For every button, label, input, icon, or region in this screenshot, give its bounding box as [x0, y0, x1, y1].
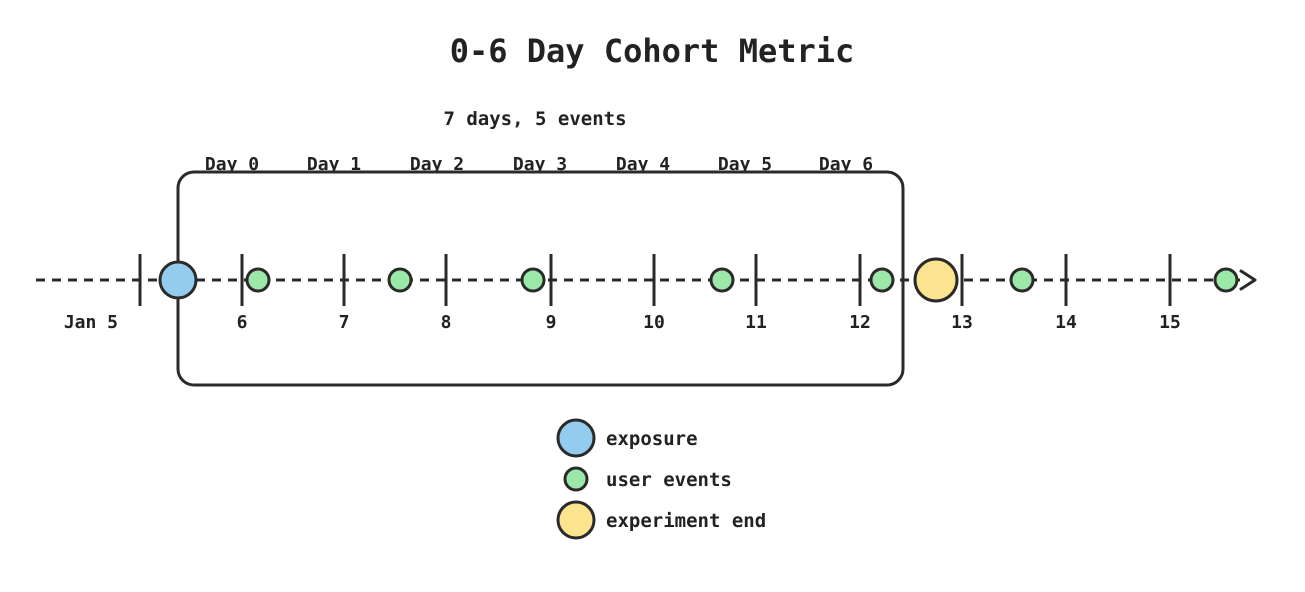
legend-label: user events: [606, 469, 732, 491]
legend-swatch-exposure: [558, 420, 594, 456]
date-label: Jan 5: [64, 312, 118, 333]
date-label: 8: [441, 312, 452, 333]
legend-label: experiment end: [606, 510, 766, 532]
date-label: 9: [546, 312, 557, 333]
date-label: 14: [1055, 312, 1077, 333]
legend: exposureuser eventsexperiment end: [558, 420, 766, 538]
diagram-canvas: 0-6 Day Cohort Metric 7 days, 5 events D…: [0, 0, 1305, 592]
marker-user-event: [1011, 269, 1033, 291]
date-label-row: Jan 56789101112131415: [64, 312, 1181, 333]
date-label: 12: [849, 312, 871, 333]
subtitle-summary: 7 days, 5 events: [443, 108, 626, 130]
date-label: 15: [1159, 312, 1181, 333]
page-title: 0-6 Day Cohort Metric: [450, 32, 855, 70]
legend-label: exposure: [606, 428, 698, 450]
date-label: 6: [237, 312, 248, 333]
cohort-timeline-diagram: 0-6 Day Cohort Metric 7 days, 5 events D…: [0, 0, 1305, 592]
date-label: 7: [339, 312, 350, 333]
marker-experiment-end: [915, 259, 957, 301]
marker-user-event: [711, 269, 733, 291]
legend-swatch-user-event: [565, 468, 587, 490]
date-label: 10: [643, 312, 665, 333]
date-label: 13: [951, 312, 973, 333]
legend-swatch-experiment-end: [558, 502, 594, 538]
marker-user-event: [871, 269, 893, 291]
marker-user-event: [247, 269, 269, 291]
marker-exposure: [160, 262, 196, 298]
date-label: 11: [745, 312, 767, 333]
marker-user-event: [1215, 269, 1237, 291]
marker-user-event: [389, 269, 411, 291]
axis-arrowhead-icon: [1241, 271, 1255, 289]
marker-user-event: [522, 269, 544, 291]
